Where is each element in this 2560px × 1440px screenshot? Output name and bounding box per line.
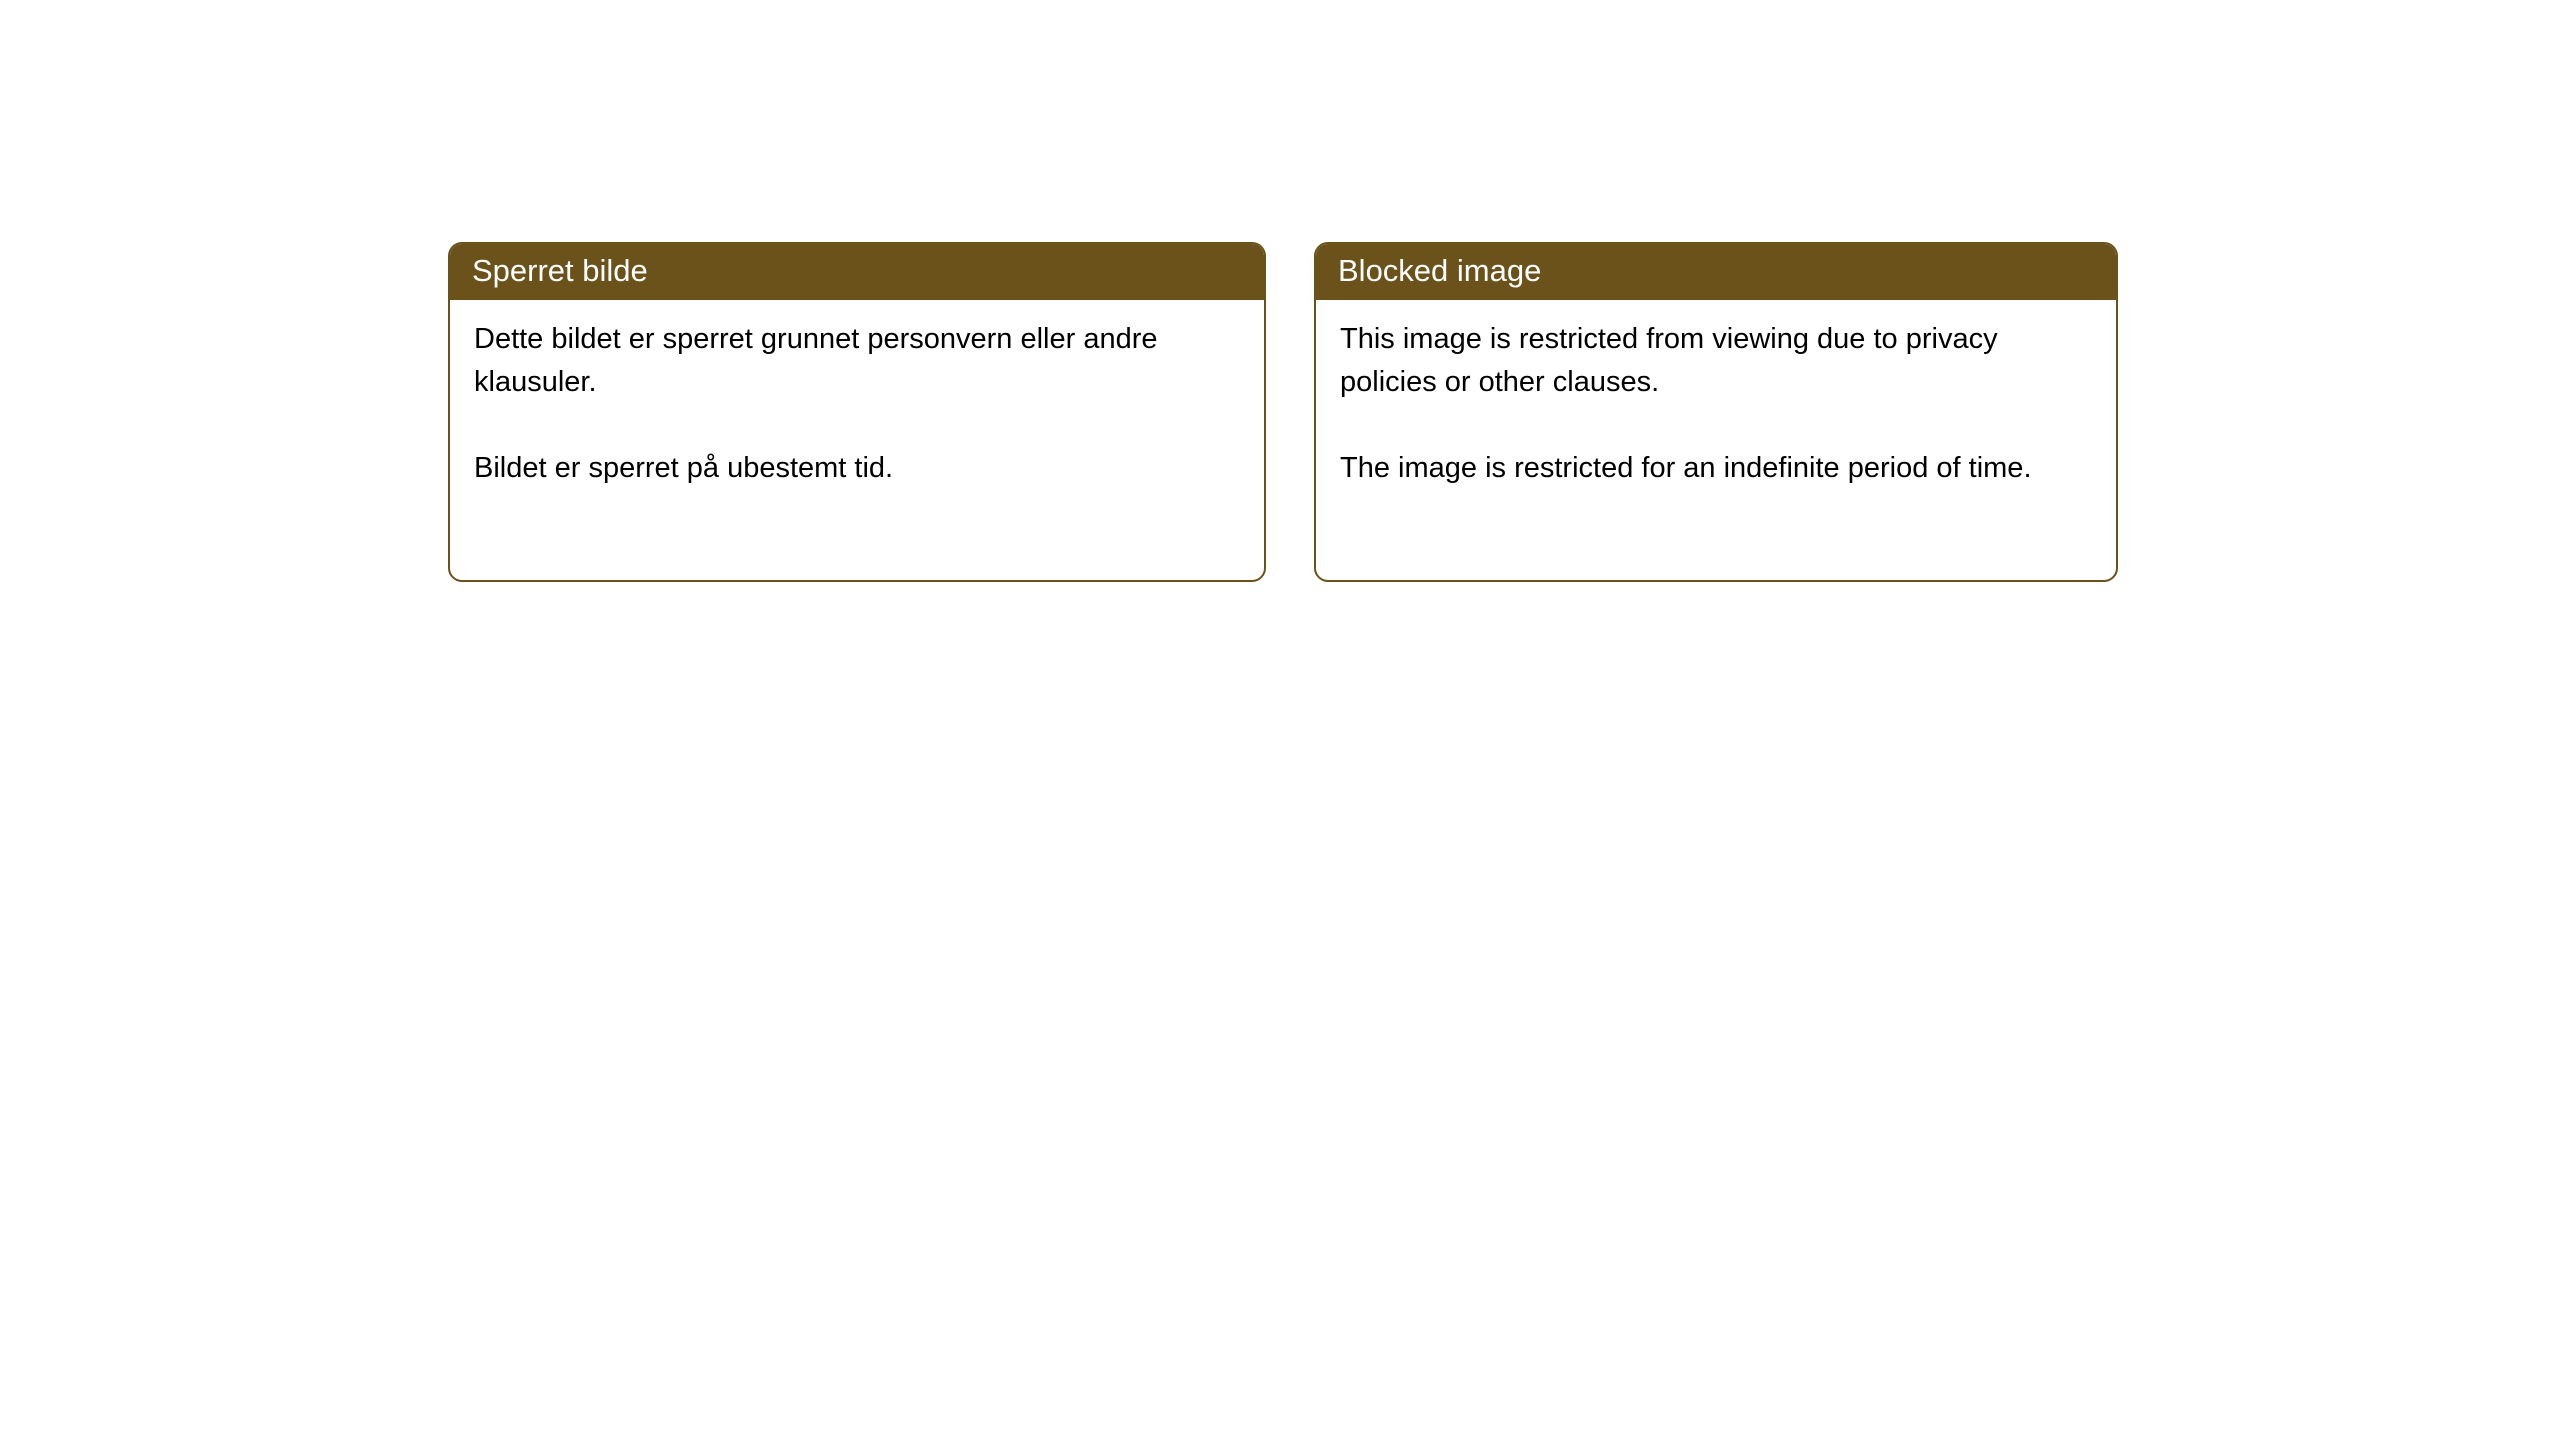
blocked-image-notice-group: Sperret bilde Dette bildet er sperret gr… (448, 242, 2118, 582)
notice-header-norwegian: Sperret bilde (448, 242, 1266, 300)
notice-paragraph-secondary-norwegian: Bildet er sperret på ubestemt tid. (474, 447, 1244, 490)
notice-paragraph-primary-norwegian: Dette bildet er sperret grunnet personve… (474, 318, 1244, 404)
notice-paragraph-secondary-english: The image is restricted for an indefinit… (1340, 447, 2096, 490)
notice-title-norwegian: Sperret bilde (472, 252, 1266, 290)
notice-body-english: This image is restricted from viewing du… (1316, 300, 2116, 580)
blocked-image-notice-english: Blocked image This image is restricted f… (1314, 242, 2118, 582)
blocked-image-notice-norwegian: Sperret bilde Dette bildet er sperret gr… (448, 242, 1266, 582)
notice-body-norwegian: Dette bildet er sperret grunnet personve… (450, 300, 1264, 580)
notice-paragraph-primary-english: This image is restricted from viewing du… (1340, 318, 2096, 404)
notice-title-english: Blocked image (1338, 252, 2118, 290)
notice-header-english: Blocked image (1314, 242, 2118, 300)
